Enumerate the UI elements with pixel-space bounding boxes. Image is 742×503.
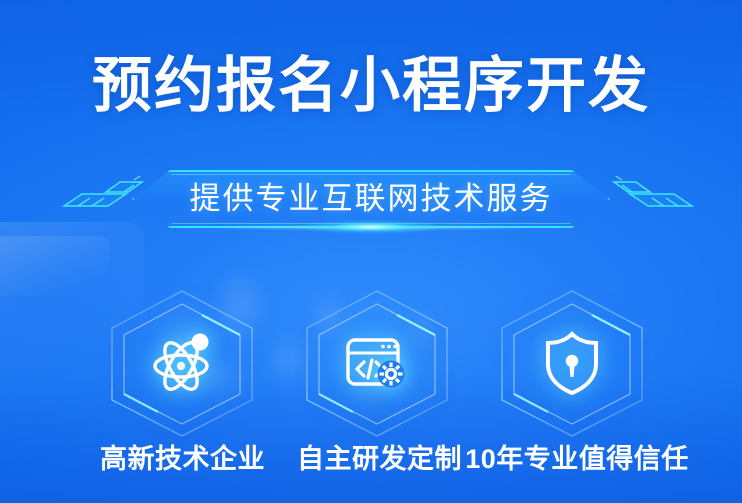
feature-icon-row <box>0 288 742 438</box>
feature-label-row: 高新技术企业 自主研发定制 10年专业值得信任 <box>0 442 742 482</box>
feature-label-1: 高新技术企业 <box>60 442 305 476</box>
feature-item-3 <box>496 288 648 438</box>
banner-flare-diamond <box>296 220 446 234</box>
feature-item-1 <box>106 288 258 438</box>
atom-icon <box>145 326 219 400</box>
promo-banner: 预约报名小程序开发 <box>0 0 742 503</box>
code-window-gear-icon <box>340 326 414 400</box>
feature-label-3: 10年专业值得信任 <box>452 442 702 476</box>
feature-item-2 <box>301 288 453 438</box>
shield-lock-icon <box>535 326 609 400</box>
subtitle-text: 提供专业互联网技术服务 <box>0 182 742 216</box>
subtitle-banner: 提供专业互联网技术服务 <box>0 170 742 232</box>
page-title: 预约报名小程序开发 <box>0 56 742 116</box>
